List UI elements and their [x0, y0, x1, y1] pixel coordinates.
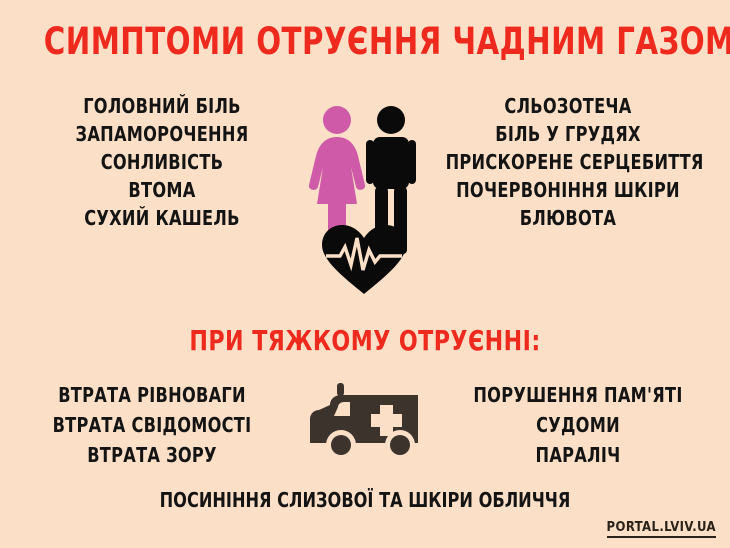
list-item: ВТРАТА ЗОРУ: [39, 440, 266, 470]
female-person-icon: [309, 106, 365, 246]
list-item: ВТРАТА СВІДОМОСТІ: [39, 410, 266, 440]
list-item: БІЛЬ У ГРУДЯХ: [446, 120, 691, 148]
list-item: СУДОМИ: [465, 410, 692, 440]
symptom-list-bottom-left: ВТРАТА РІВНОВАГИ ВТРАТА СВІДОМОСТІ ВТРАТ…: [26, 380, 278, 470]
ambulance-illustration: [308, 383, 428, 463]
list-item: ПОЧЕРВОНІННЯ ШКІРИ: [446, 176, 691, 204]
list-item: ПРИСКОРЕНЕ СЕРЦЕБИТТЯ: [446, 148, 691, 176]
people-and-heart-illustration: [308, 104, 426, 294]
symptom-list-top-right: СЛЬОЗОТЕЧА БІЛЬ У ГРУДЯХ ПРИСКОРЕНЕ СЕРЦ…: [432, 92, 704, 232]
symptom-list-top-left: ГОЛОВНИЙ БІЛЬ ЗАПАМОРОЧЕННЯ СОНЛИВІСТЬ В…: [26, 92, 298, 232]
list-item: ЗАПАМОРОЧЕННЯ: [40, 120, 285, 148]
list-item: ВТОМА: [40, 176, 285, 204]
list-item: БЛЮВОТА: [446, 204, 691, 232]
list-item: ГОЛОВНИЙ БІЛЬ: [40, 92, 285, 120]
list-item: ПОРУШЕННЯ ПАМ'ЯТІ: [465, 380, 692, 410]
page-title: СИМПТОМИ ОТРУЄННЯ ЧАДНИМ ГАЗОМ:: [44, 21, 686, 63]
heart-heartbeat-icon: [322, 225, 406, 294]
section-title-severe: ПРИ ТЯЖКОМУ ОТРУЄННІ:: [44, 325, 686, 357]
list-item: СЛЬОЗОТЕЧА: [446, 92, 691, 120]
list-item: ВТРАТА РІВНОВАГИ: [39, 380, 266, 410]
footer-watermark: PORTAL.LVIV.UA: [607, 520, 716, 538]
list-item: ПАРАЛІЧ: [465, 440, 692, 470]
symptom-bottom-full-width: ПОСИНІННЯ СЛИЗОВОЇ ТА ШКІРИ ОБЛИЧЧЯ: [37, 488, 694, 512]
symptom-list-bottom-right: ПОРУШЕННЯ ПАМ'ЯТІ СУДОМИ ПАРАЛІЧ: [452, 380, 704, 470]
list-item: СУХИЙ КАШЕЛЬ: [40, 204, 285, 232]
infographic-poster: СИМПТОМИ ОТРУЄННЯ ЧАДНИМ ГАЗОМ: ГОЛОВНИЙ…: [0, 0, 730, 548]
list-item: СОНЛИВІСТЬ: [40, 148, 285, 176]
